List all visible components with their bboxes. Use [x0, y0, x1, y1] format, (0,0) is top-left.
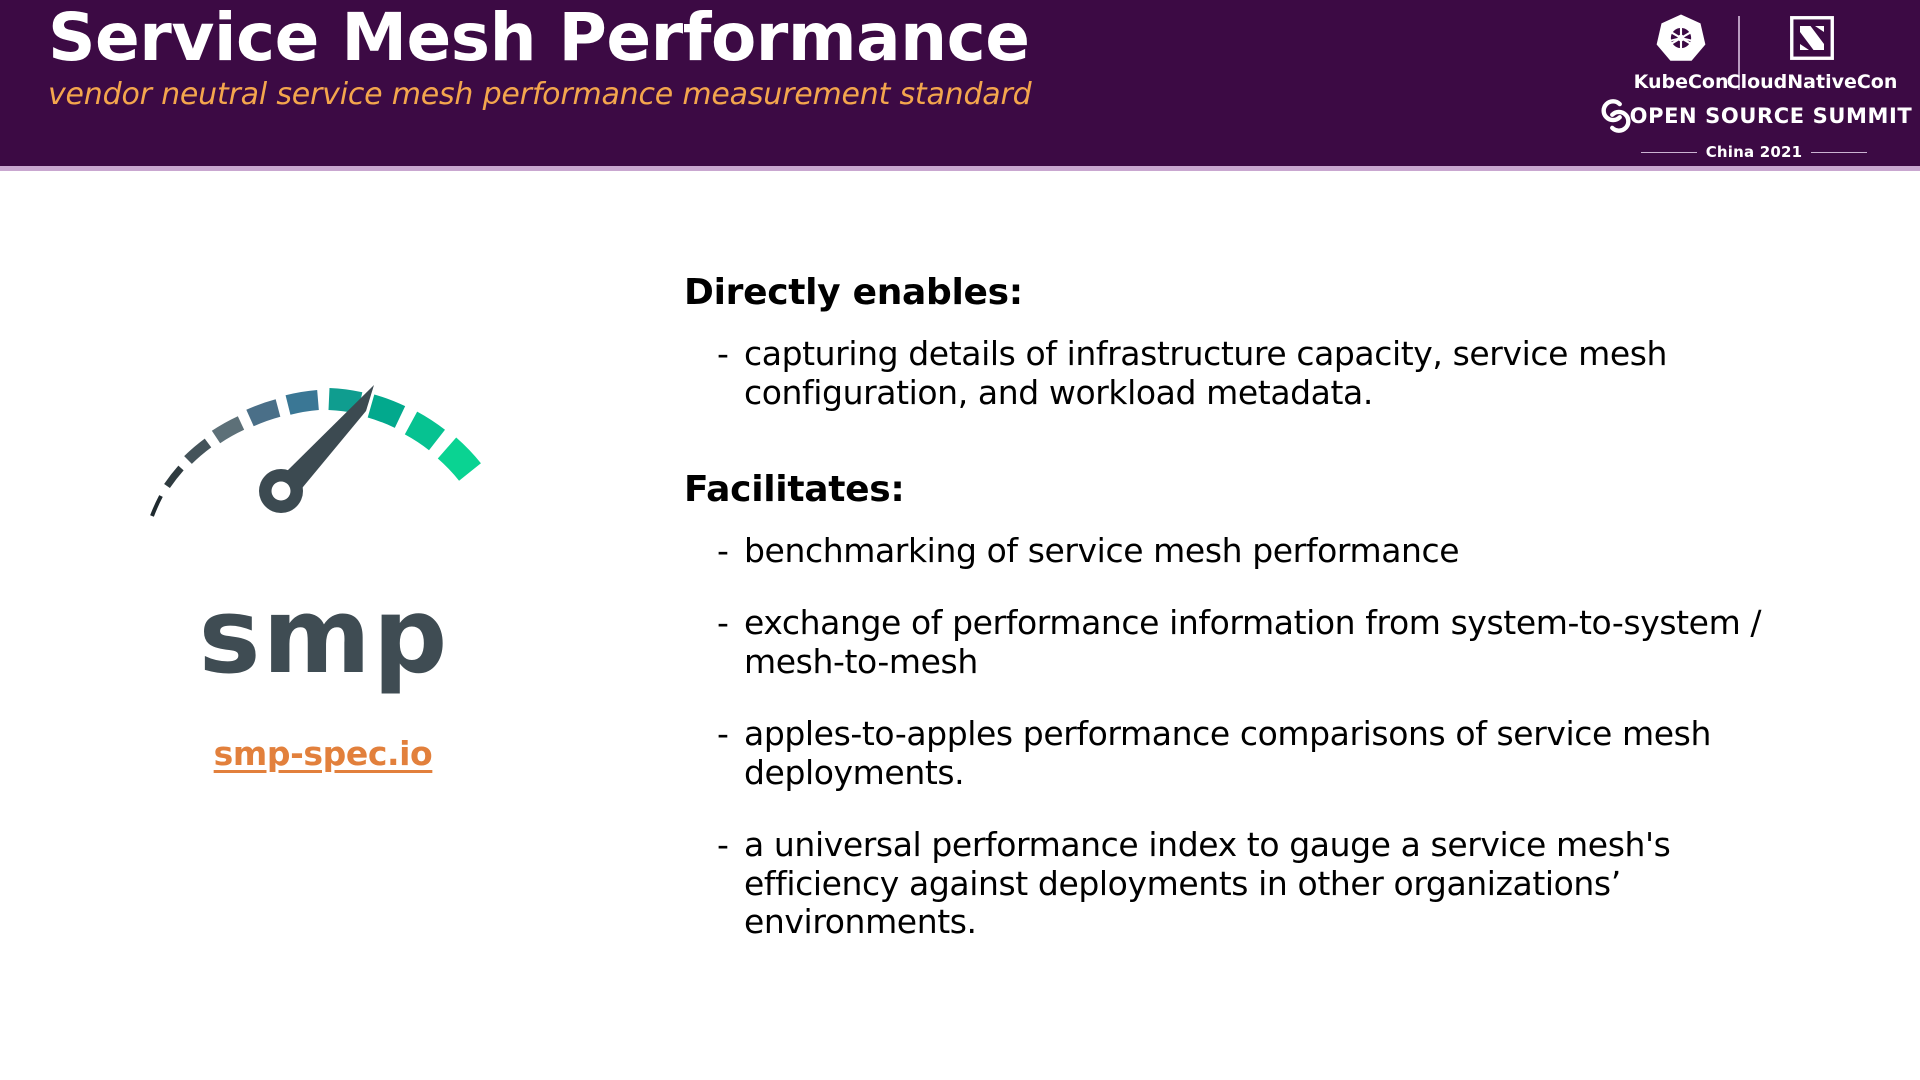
list-item-text: capturing details of infrastructure capa… [744, 335, 1834, 413]
page-subtitle: vendor neutral service mesh performance … [48, 77, 1031, 112]
section-facilitates: Facilitates: - benchmarking of service m… [684, 469, 1864, 943]
content-column: Directly enables: - capturing details of… [684, 272, 1864, 942]
list-item: - a universal performance index to gauge… [684, 826, 1864, 943]
bullet-marker: - [684, 335, 744, 374]
list-item-text: apples-to-apples performance comparisons… [744, 715, 1834, 793]
section-directly-enables: Directly enables: - capturing details of… [684, 272, 1864, 413]
title-block: Service Mesh Performance vendor neutral … [48, 4, 1031, 112]
list-item-text: benchmarking of service mesh performance [744, 532, 1459, 571]
list-item: - exchange of performance information fr… [684, 604, 1864, 682]
conference-logo-row: KubeCon CloudNativeCon [1630, 6, 1878, 92]
event-logo-lockup: KubeCon CloudNativeCon [1630, 6, 1878, 158]
summit-location-label: China 2021 [1706, 143, 1803, 161]
header-bottom-rule [0, 166, 1920, 171]
smp-wordmark: smp [92, 584, 556, 688]
bullet-marker: - [684, 715, 744, 754]
list-item-text: exchange of performance information from… [744, 604, 1834, 682]
page-title: Service Mesh Performance [48, 4, 1031, 71]
smp-spec-link[interactable]: smp-spec.io [214, 734, 433, 773]
bullet-marker: - [684, 532, 744, 571]
cncf-square-icon [1788, 10, 1836, 66]
cloudnativecon-label: CloudNativeCon [1727, 73, 1898, 92]
section-heading: Directly enables: [684, 272, 1864, 313]
summit-location-row: China 2021 [1630, 143, 1878, 161]
list-item: - benchmarking of service mesh performan… [684, 532, 1864, 571]
bullet-list: - benchmarking of service mesh performan… [684, 532, 1864, 943]
bullet-marker: - [684, 826, 744, 865]
list-item: - apples-to-apples performance compariso… [684, 715, 1864, 793]
cloudnativecon-logo: CloudNativeCon [1746, 10, 1878, 92]
bullet-list: - capturing details of infrastructure ca… [684, 335, 1864, 413]
bullet-marker: - [684, 604, 744, 643]
open-source-summit-row: OPEN SOURCE SUMMIT [1630, 96, 1878, 136]
slide-header-bar: Service Mesh Performance vendor neutral … [0, 0, 1920, 166]
kubecon-label: KubeCon [1634, 73, 1729, 92]
list-item: - capturing details of infrastructure ca… [684, 335, 1864, 413]
rule-left [1641, 152, 1697, 153]
kubecon-logo: KubeCon [1630, 10, 1732, 92]
kubernetes-helm-icon [1655, 10, 1707, 66]
smp-gauge-graphic [126, 280, 526, 590]
rule-right [1811, 152, 1867, 153]
list-item-text: a universal performance index to gauge a… [744, 826, 1834, 943]
smp-logo-block: smp smp-spec.io [96, 280, 556, 773]
summit-label: OPEN SOURCE SUMMIT [1630, 104, 1913, 128]
section-heading: Facilitates: [684, 469, 1864, 510]
